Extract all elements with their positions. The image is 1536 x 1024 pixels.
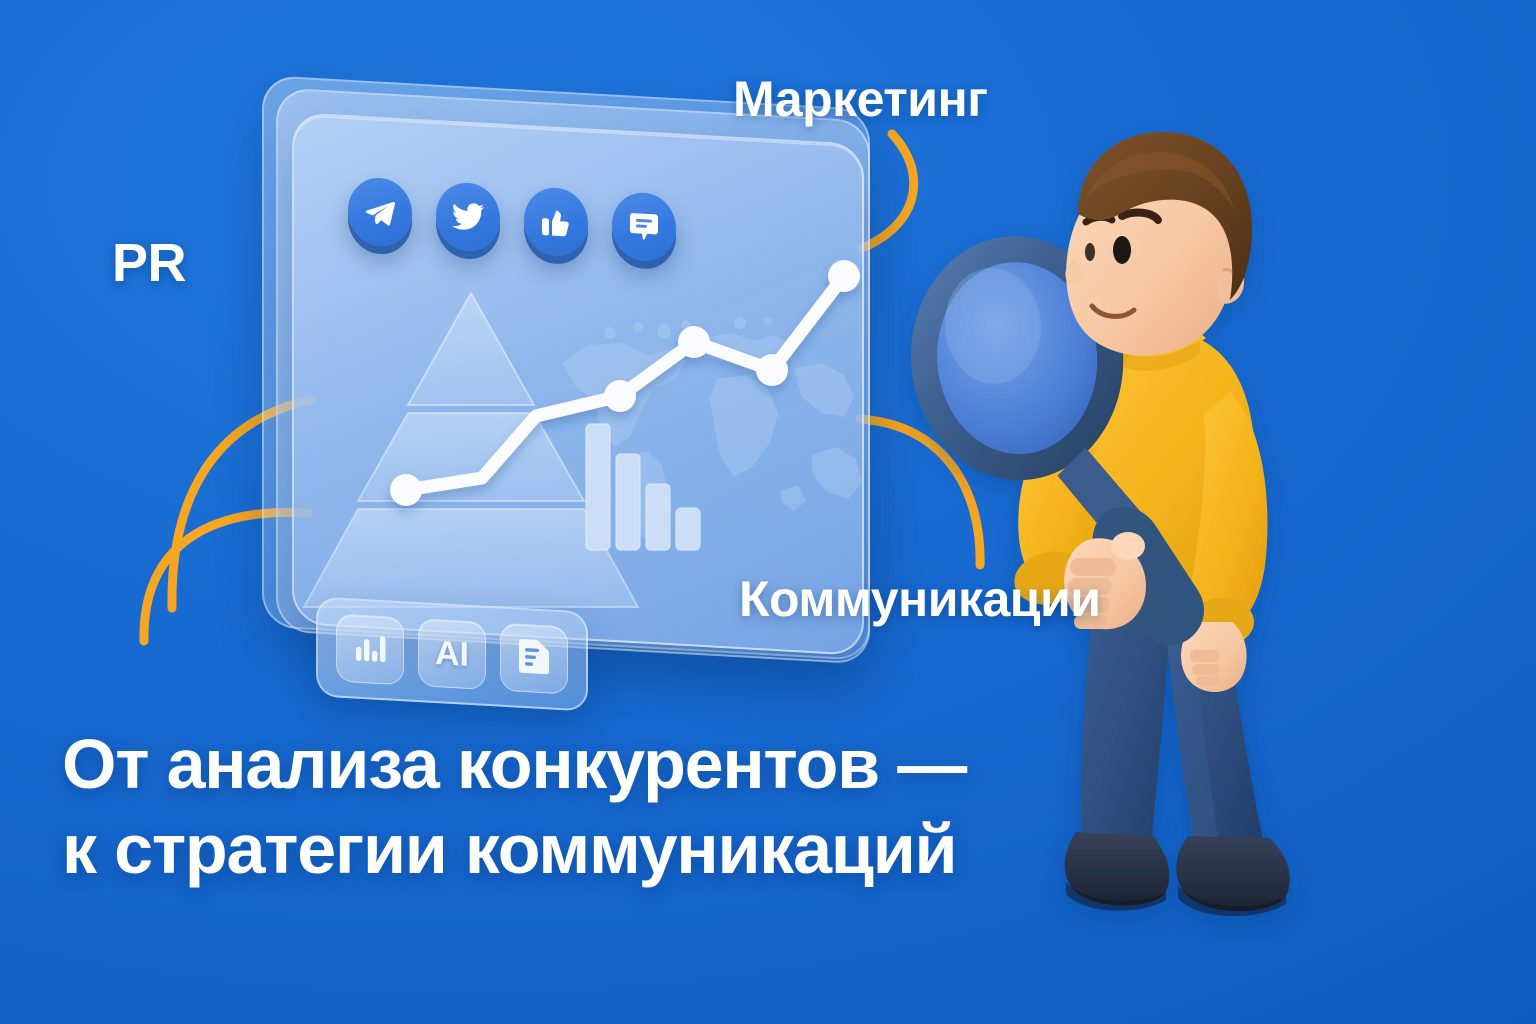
poster-canvas: AI	[0, 0, 1536, 1024]
tool-ai[interactable]: AI	[418, 618, 486, 690]
social-button-like[interactable]	[524, 186, 588, 258]
headline-line-2: к стратегии коммуникаций	[62, 811, 1242, 888]
telegram-icon	[364, 195, 396, 229]
bar-chart-icon	[354, 630, 386, 669]
thumbs-up-icon	[541, 206, 571, 238]
social-button-telegram[interactable]	[348, 176, 412, 248]
social-buttons-row	[348, 176, 698, 288]
dashboard-toolbar: AI	[316, 596, 588, 711]
tool-analytics[interactable]	[336, 614, 404, 686]
social-button-comment[interactable]	[612, 191, 676, 263]
headline-line-1: От анализа конкурентов —	[62, 726, 1242, 803]
tool-report[interactable]	[500, 623, 568, 695]
ai-text-icon: AI	[435, 636, 469, 672]
page-title: От анализа конкурентов — к стратегии ком…	[62, 726, 1242, 888]
label-communications-clip: Коммуникации	[700, 560, 1122, 632]
twitter-icon	[452, 202, 484, 232]
label-communications: Коммуникации	[739, 570, 1101, 628]
label-pr: PR	[112, 232, 186, 294]
social-button-twitter[interactable]	[436, 181, 500, 253]
chat-bubble-icon	[629, 211, 659, 243]
label-marketing: Маркетинг	[733, 70, 988, 128]
document-icon	[519, 638, 549, 679]
